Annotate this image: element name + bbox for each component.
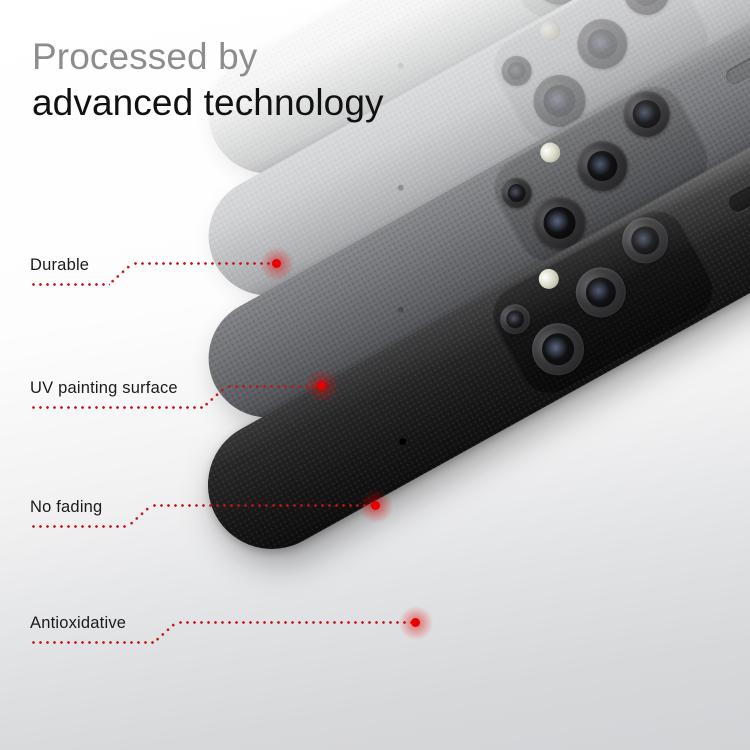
lens-small-b — [614, 209, 677, 272]
microphone-hole — [397, 184, 405, 192]
camera-flash — [537, 17, 564, 44]
heading-block: Processed by advanced technology — [32, 38, 384, 121]
lens-small-a-glass — [504, 59, 528, 83]
lens-medium-glass — [582, 24, 623, 65]
callout-marker-durable — [272, 259, 281, 268]
callout-label-antioxidative: Antioxidative — [30, 614, 126, 633]
heading-line-2: advanced technology — [32, 84, 384, 121]
lens-large-glass — [538, 79, 582, 123]
lens-small-a — [495, 299, 536, 340]
callout-label-no-fading: No fading — [30, 498, 102, 517]
side-button-cutout — [726, 161, 750, 215]
lens-small-b — [615, 0, 678, 23]
lens-large-glass — [536, 328, 580, 372]
lens-small-a — [496, 173, 537, 214]
callout-leader-antioxidative — [177, 621, 415, 624]
lens-small-b-glass — [626, 221, 664, 259]
lens-medium-glass — [582, 146, 623, 187]
callout-marker-antioxidative — [411, 618, 420, 627]
callout-leader-durable — [132, 262, 277, 265]
microphone-hole — [397, 62, 405, 70]
lens-small-a — [496, 51, 537, 92]
callout-underline-uv-painting-surface — [30, 406, 204, 409]
callout-underline-antioxidative — [30, 641, 155, 644]
callout-label-durable: Durable — [30, 256, 89, 275]
lens-small-b — [615, 83, 678, 146]
camera-flash — [535, 265, 562, 292]
callout-marker-no-fading — [371, 501, 380, 510]
lens-medium — [568, 10, 636, 78]
lens-small-a-glass — [503, 307, 527, 331]
lens-large-glass — [538, 201, 582, 245]
lens-medium — [567, 258, 635, 326]
camera-flash — [537, 139, 564, 166]
microphone-hole — [397, 306, 405, 314]
side-button-cutout — [723, 37, 750, 88]
product-feature-infographic: Processed by advanced technology Durable… — [0, 0, 750, 750]
heading-line-1: Processed by — [32, 38, 384, 75]
callout-leader-no-fading — [151, 504, 375, 507]
lens-small-a-glass — [504, 181, 528, 205]
lens-small-b-glass — [628, 0, 666, 11]
callout-underline-no-fading — [30, 525, 129, 528]
callout-underline-durable — [30, 283, 110, 286]
callout-marker-uv-painting-surface — [317, 381, 326, 390]
lens-medium-glass — [580, 272, 621, 313]
lens-large — [523, 314, 594, 385]
microphone-hole — [398, 437, 408, 447]
callout-label-uv-painting-surface: UV painting surface — [30, 379, 178, 398]
lens-small-b-glass — [628, 95, 666, 133]
lens-medium — [568, 132, 636, 200]
